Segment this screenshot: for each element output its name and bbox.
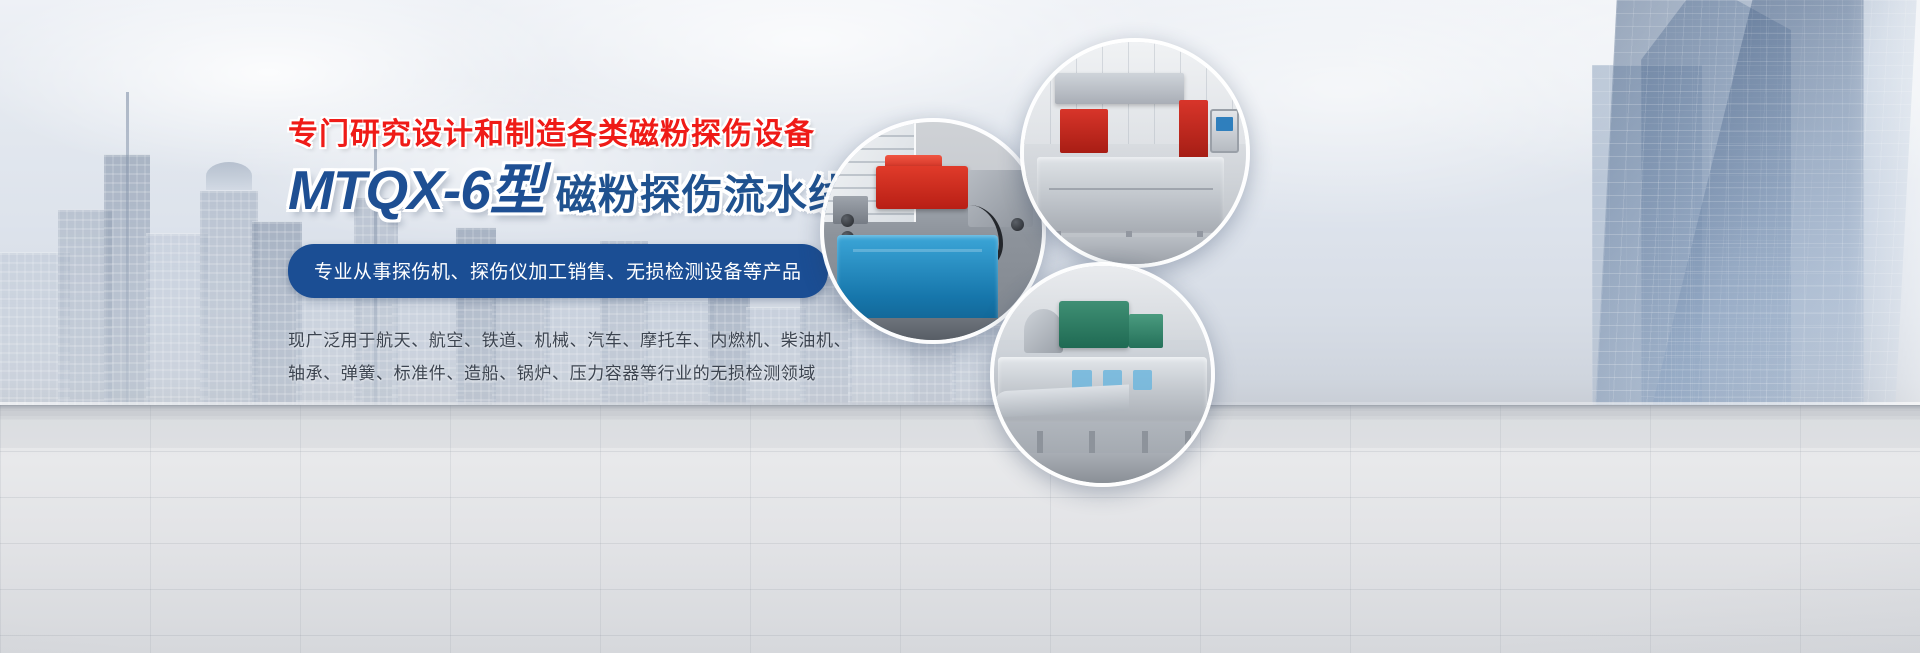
promotional-banner: 专门研究设计和制造各类磁粉探伤设备 MTQX-6型 磁粉探伤流水线 专业从事探伤…: [0, 0, 1920, 653]
product-name-text: 磁粉探伤流水线: [556, 175, 850, 216]
headline-text: 专门研究设计和制造各类磁粉探伤设备: [288, 118, 808, 151]
banner-copy: 专门研究设计和制造各类磁粉探伤设备 MTQX-6型 磁粉探伤流水线 专业从事探伤…: [288, 118, 808, 390]
photo-conveyor-inspection-line: [990, 262, 1215, 487]
description-line-2: 轴承、弹簧、标准件、造船、锅炉、压力容器等行业的无损检测领域: [288, 357, 808, 390]
product-title: MTQX-6型 磁粉探伤流水线: [288, 163, 808, 218]
product-model-text: MTQX-6型: [288, 163, 544, 218]
description-block: 现广泛用于航天、航空、铁道、机械、汽车、摩托车、内燃机、柴油机、 轴承、弹簧、标…: [288, 324, 808, 390]
tiled-plaza-ground: [0, 405, 1920, 653]
photo-stainless-steel-inspection-cabinet: [1020, 38, 1250, 268]
description-line-1: 现广泛用于航天、航空、铁道、机械、汽车、摩托车、内燃机、柴油机、: [288, 324, 808, 357]
services-pill-button[interactable]: 专业从事探伤机、探伤仪加工销售、无损检测设备等产品: [288, 244, 828, 298]
